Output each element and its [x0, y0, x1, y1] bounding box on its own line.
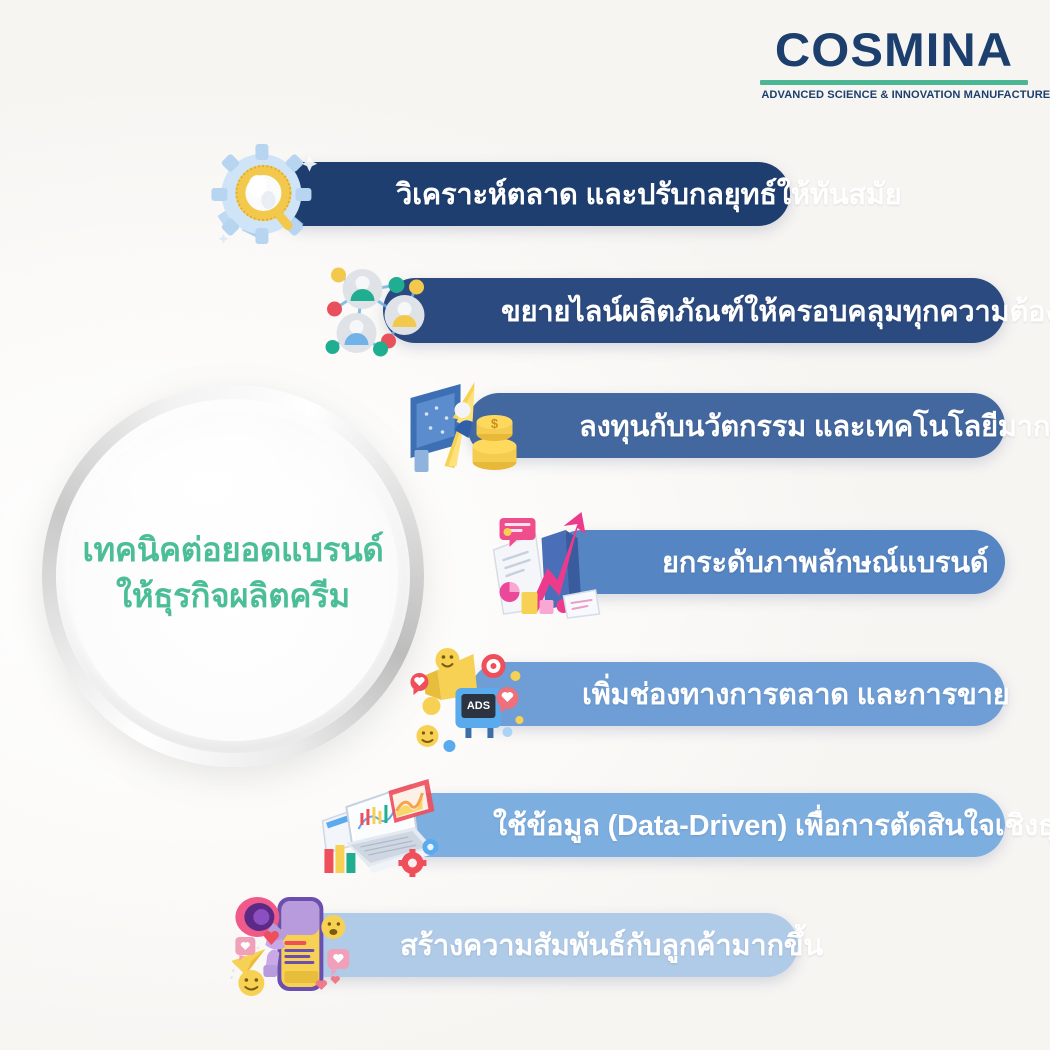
list-item-4-label: ยกระดับภาพลักษณ์แบรนด์	[662, 539, 989, 585]
list-item-3[interactable]: $ ลงทุนกับนวัตกรรม และเทคโนโลยีมากขึ้น	[467, 393, 1005, 458]
center-title-line-1: เทคนิคต่อยอดแบรนด์	[82, 527, 383, 573]
center-circle-badge: เทคนิคต่อยอดแบรนด์ ให้ธุรกิจผลิตครีม	[42, 385, 424, 767]
list-item-7[interactable]: สร้างความสัมพันธ์กับลูกค้ามากขึ้น	[290, 913, 798, 977]
center-title: เทคนิคต่อยอดแบรนด์ ให้ธุรกิจผลิตครีม	[42, 385, 424, 767]
growth-chart-icon	[486, 504, 610, 620]
list-item-1[interactable]: วิเคราะห์ตลาด และปรับกลยุทธ์ให้ทันสมัย	[272, 162, 790, 226]
list-item-6[interactable]: ใช้ข้อมูล (Data-Driven) เพื่อการตัดสินใจ…	[383, 793, 1005, 857]
list-item-5-label: เพิ่มช่องทางการตลาด และการขาย	[582, 671, 1010, 717]
brand-logo: COSMINA ADVANCED SCIENCE & INNOVATION MA…	[760, 26, 1028, 101]
list-item-6-label: ใช้ข้อมูล (Data-Driven) เพื่อการตัดสินใจ…	[493, 802, 1050, 848]
list-item-4[interactable]: ยกระดับภาพลักษณ์แบรนด์	[550, 530, 1005, 594]
svg-text:ADS: ADS	[467, 700, 490, 712]
logo-tagline: ADVANCED SCIENCE & INNOVATION MANUFACTUR…	[761, 89, 1026, 101]
list-item-1-label: วิเคราะห์ตลาด และปรับกลยุทธ์ให้ทันสมัย	[396, 171, 902, 217]
list-item-5[interactable]: ADS เพิ่มช่องทางการตลาด และการขาย	[470, 662, 1005, 726]
logo-wordmark: COSMINA	[755, 26, 1034, 73]
svg-text:$: $	[491, 416, 499, 431]
list-item-7-label: สร้างความสัมพันธ์กับลูกค้ามากขึ้น	[400, 922, 823, 968]
phone-social-icon	[221, 883, 353, 1007]
center-title-line-2: ให้ธุรกิจผลิตครีม	[116, 573, 350, 619]
list-item-2[interactable]: ขยายไลน์ผลิตภัณฑ์ให้ครอบคลุมทุกความต้องก…	[383, 278, 1005, 343]
gear-magnifier-icon	[205, 138, 333, 250]
list-item-2-label: ขยายไลน์ผลิตภัณฑ์ให้ครอบคลุมทุกความต้องก…	[501, 288, 1050, 334]
list-item-3-label: ลงทุนกับนวัตกรรม และเทคโนโลยีมากขึ้น	[579, 403, 1050, 449]
laptop-analytics-icon	[316, 769, 444, 881]
logo-divider-rule	[760, 80, 1028, 85]
network-people-icon	[319, 255, 443, 367]
